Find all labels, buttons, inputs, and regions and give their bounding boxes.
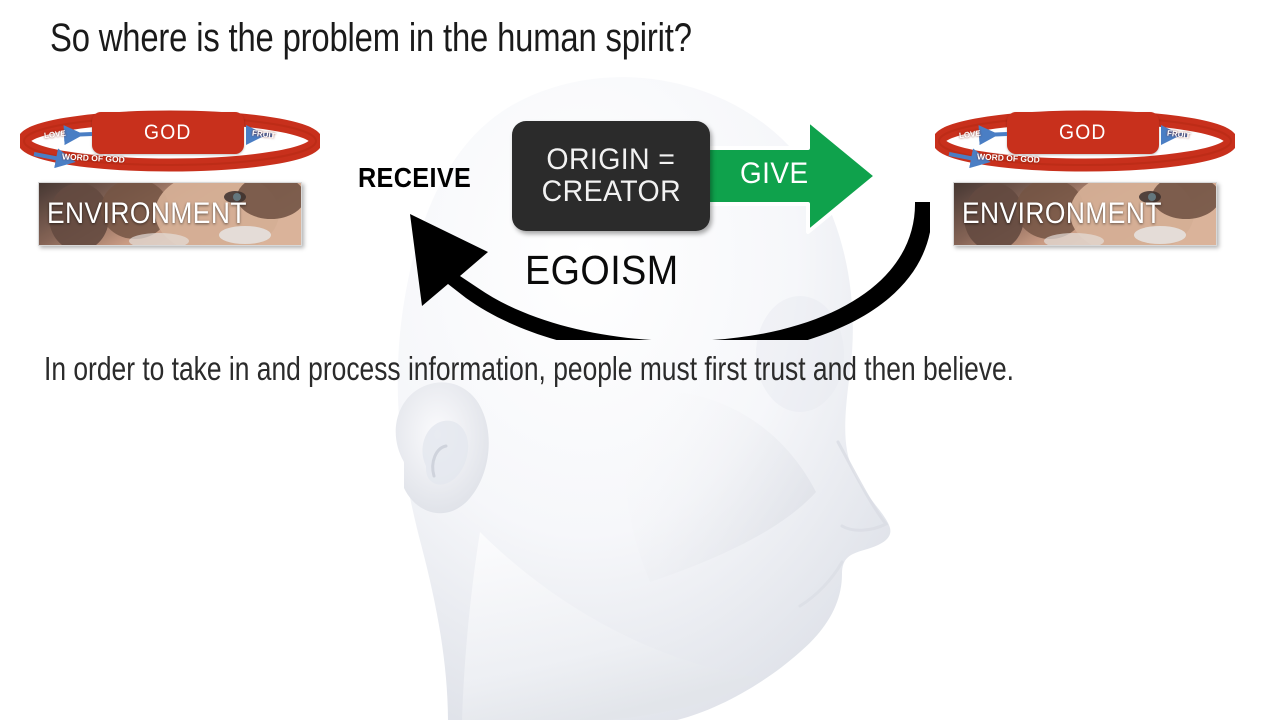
origin-creator-box: ORIGIN = CREATOR	[512, 121, 710, 231]
environment-photo-band: ENVIRONMENT	[38, 182, 302, 246]
god-ring-arrows	[20, 110, 320, 172]
slide-canvas: So where is the problem in the human spi…	[0, 0, 1280, 720]
god-ring-arrows	[935, 110, 1235, 172]
environment-label: ENVIRONMENT	[47, 197, 247, 231]
slide-title: So where is the problem in the human spi…	[50, 16, 692, 61]
origin-line-1: ORIGIN =	[547, 144, 676, 176]
give-label: GIVE	[740, 157, 809, 191]
environment-photo-band: ENVIRONMENT	[953, 182, 1217, 246]
receive-label: RECEIVE	[358, 162, 471, 194]
environment-label: ENVIRONMENT	[962, 197, 1162, 231]
god-unit-left: GOD LOVE FRUIT WORD OF GOD	[20, 110, 320, 260]
god-unit-right: GOD LOVE FRUIT WORD OF GOD	[935, 110, 1235, 260]
egoism-label: EGOISM	[525, 247, 679, 294]
slide-caption: In order to take in and process informat…	[44, 350, 1014, 388]
origin-line-2: CREATOR	[541, 176, 680, 208]
